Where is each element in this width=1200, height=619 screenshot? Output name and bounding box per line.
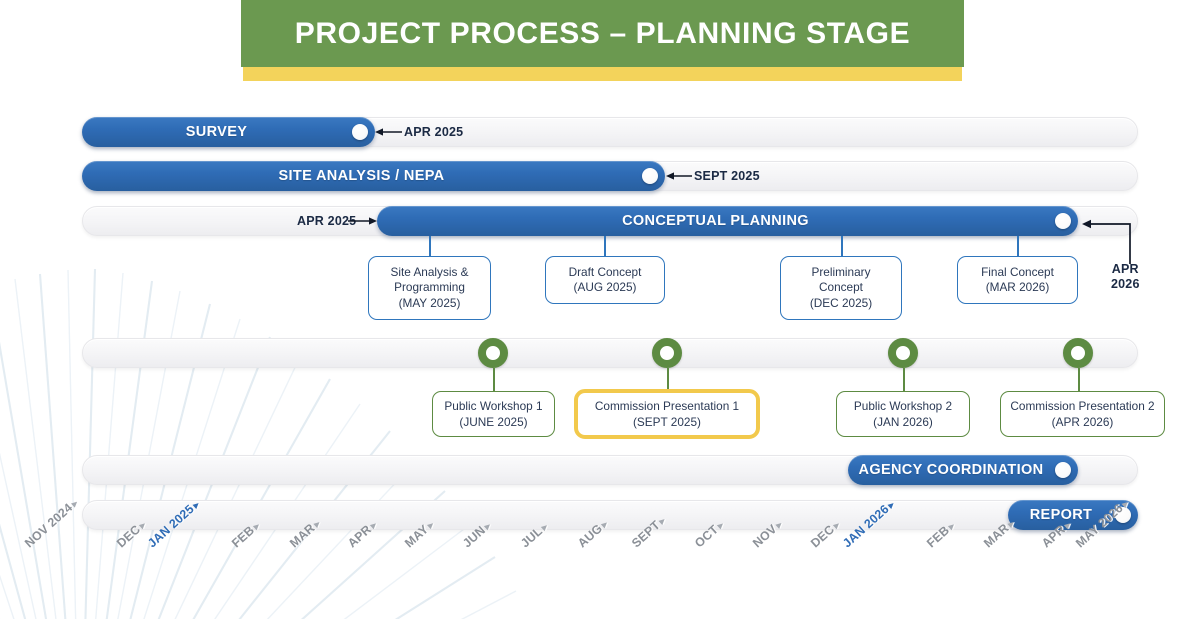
phase-bar-conceptual-planning-label: CONCEPTUAL PLANNING bbox=[377, 213, 1078, 229]
engagement-box-commission-presentation-2[interactable]: Commission Presentation 2 (APR 2026) bbox=[1000, 391, 1165, 437]
phase-bar-conceptual-planning[interactable]: CONCEPTUAL PLANNING bbox=[377, 206, 1078, 236]
engagement-marker-icon[interactable] bbox=[652, 338, 682, 368]
connector-stem bbox=[493, 368, 495, 392]
engagement-marker-icon[interactable] bbox=[478, 338, 508, 368]
engagement-box-commission-presentation-1[interactable]: Commission Presentation 1 (SEPT 2025) bbox=[574, 389, 760, 439]
title-accent-bar bbox=[243, 67, 962, 81]
engagement-date: (JAN 2026) bbox=[854, 414, 952, 430]
callout-conceptual-end-month: APR bbox=[1111, 262, 1140, 277]
slide-title-banner: PROJECT PROCESS – PLANNING STAGE bbox=[241, 0, 964, 67]
engagement-date: (SEPT 2025) bbox=[595, 414, 739, 430]
phase-bar-agency-coordination[interactable]: AGENCY COORDINATION bbox=[848, 455, 1078, 485]
engagement-marker-icon[interactable] bbox=[1063, 338, 1093, 368]
phase-bar-survey-label: SURVEY bbox=[82, 124, 375, 140]
engagement-name: Commission Presentation 1 bbox=[595, 398, 739, 414]
deliverable-box-site-analysis[interactable]: Site Analysis & Programming (MAY 2025) bbox=[368, 256, 491, 320]
connector-stem bbox=[429, 236, 431, 257]
engagement-name: Public Workshop 1 bbox=[444, 398, 542, 414]
deliverable-name-line2: Programming bbox=[390, 280, 468, 296]
engagement-name: Public Workshop 2 bbox=[854, 398, 952, 414]
timeline-track-engagement bbox=[82, 338, 1138, 368]
month-axis: NOV 2024▸DEC▸JAN 2025▸FEB▸MAR▸APR▸MAY▸JU… bbox=[0, 540, 1200, 619]
deliverable-name-line1: Final Concept bbox=[981, 265, 1054, 281]
deliverable-box-draft-concept[interactable]: Draft Concept (AUG 2025) bbox=[545, 256, 665, 304]
connector-stem bbox=[604, 236, 606, 257]
connector-stem bbox=[1017, 236, 1019, 257]
milestone-knob-icon bbox=[642, 168, 658, 184]
engagement-marker-icon[interactable] bbox=[888, 338, 918, 368]
milestone-knob-icon bbox=[1055, 462, 1071, 478]
deliverable-box-final-concept[interactable]: Final Concept (MAR 2026) bbox=[957, 256, 1078, 304]
phase-bar-site-analysis-label: SITE ANALYSIS / NEPA bbox=[82, 168, 665, 184]
engagement-name: Commission Presentation 2 bbox=[1010, 398, 1154, 414]
slide-canvas: PROJECT PROCESS – PLANNING STAGE SURVEY … bbox=[0, 0, 1200, 619]
connector-stem bbox=[1078, 368, 1080, 392]
engagement-date: (JUNE 2025) bbox=[444, 414, 542, 430]
callout-conceptual-end: APR 2026 bbox=[1111, 262, 1140, 292]
connector-stem bbox=[841, 236, 843, 257]
deliverable-date: (MAY 2025) bbox=[390, 296, 468, 312]
engagement-box-public-workshop-2[interactable]: Public Workshop 2 (JAN 2026) bbox=[836, 391, 970, 437]
milestone-knob-icon bbox=[352, 124, 368, 140]
deliverable-date: (DEC 2025) bbox=[810, 296, 872, 312]
deliverable-name-line1: Draft Concept bbox=[569, 265, 642, 281]
axis-month-label: NOV 2024▸ bbox=[22, 496, 81, 551]
milestone-knob-icon bbox=[1055, 213, 1071, 229]
axis-month-text: NOV 2024 bbox=[22, 501, 75, 551]
phase-bar-survey[interactable]: SURVEY bbox=[82, 117, 375, 147]
callout-conceptual-start: APR 2025 bbox=[297, 214, 356, 228]
deliverable-date: (AUG 2025) bbox=[569, 280, 642, 296]
phase-bar-site-analysis[interactable]: SITE ANALYSIS / NEPA bbox=[82, 161, 665, 191]
engagement-date: (APR 2026) bbox=[1010, 414, 1154, 430]
deliverable-name-line1: Site Analysis & bbox=[390, 265, 468, 281]
connector-stem bbox=[903, 368, 905, 392]
callout-survey-end: APR 2025 bbox=[404, 125, 463, 139]
deliverable-box-preliminary-concept[interactable]: Preliminary Concept (DEC 2025) bbox=[780, 256, 902, 320]
deliverable-name-line1: Preliminary bbox=[810, 265, 872, 281]
deliverable-date: (MAR 2026) bbox=[981, 280, 1054, 296]
phase-bar-agency-coordination-label: AGENCY COORDINATION bbox=[848, 462, 1078, 478]
callout-conceptual-end-year: 2026 bbox=[1111, 277, 1140, 292]
callout-site-analysis-end: SEPT 2025 bbox=[694, 169, 760, 183]
deliverable-name-line2: Concept bbox=[810, 280, 872, 296]
page-title: PROJECT PROCESS – PLANNING STAGE bbox=[295, 17, 910, 51]
engagement-box-public-workshop-1[interactable]: Public Workshop 1 (JUNE 2025) bbox=[432, 391, 555, 437]
